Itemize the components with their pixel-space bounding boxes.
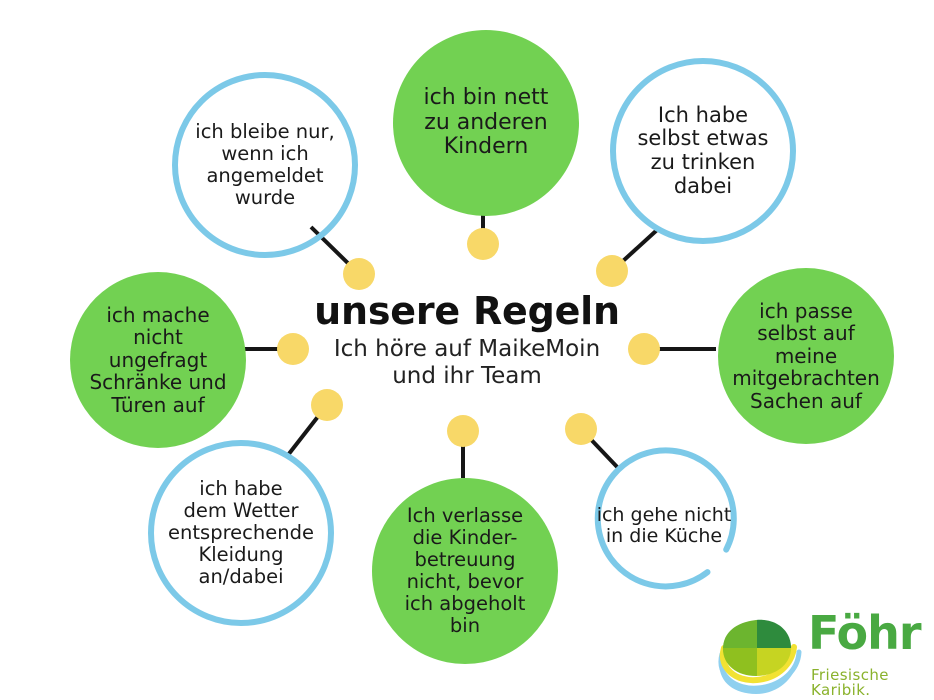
rule-text-nett: ich bin nett zu anderen Kindern [393,86,579,161]
connector-kinder-dot [447,415,479,447]
rule-bubble-anmeldung[interactable]: ich bleibe nur, wenn ich angemeldet wurd… [172,72,358,258]
foehr-island-icon [712,614,804,694]
rule-bubble-schraenke[interactable]: ich mache nicht ungefragt Schränke und T… [70,272,246,448]
rule-bubble-wetter[interactable]: ich habe dem Wetter entsprechende Kleidu… [148,440,334,626]
rule-text-kinder: Ich verlasse die Kinder- betreuung nicht… [372,505,558,637]
connector-sachen-dot [628,333,660,365]
logo-wordmark: Föhr [808,610,921,656]
connector-dots [277,228,660,447]
rule-text-sachen: ich passe selbst auf meine mitgebrachten… [718,300,894,413]
logo-tagline: Friesische Karibik. [811,668,928,698]
rule-bubble-sachen[interactable]: ich passe selbst auf meine mitgebrachten… [718,268,894,444]
rule-bubble-kueche[interactable]: ich gehe nicht in die Küche [584,446,744,606]
connector-trinken-dot [596,255,628,287]
rule-bubble-nett[interactable]: ich bin nett zu anderen Kindern [393,30,579,216]
connector-schraenke-dot [277,333,309,365]
mindmap-canvas: ich bleibe nur, wenn ich angemeldet wurd… [0,0,934,700]
connector-kueche-dot [565,413,597,445]
connector-nett-dot [467,228,499,260]
rule-text-wetter: ich habe dem Wetter entsprechende Kleidu… [154,478,328,588]
rule-bubble-trinken[interactable]: Ich habe selbst etwas zu trinken dabei [610,58,796,244]
rule-text-anmeldung: ich bleibe nur, wenn ich angemeldet wurd… [178,121,352,209]
rule-text-trinken: Ich habe selbst etwas zu trinken dabei [616,104,790,199]
rule-text-kueche: ich gehe nicht in die Küche [584,505,744,548]
foehr-logo[interactable]: Föhr Friesische Karibik. [712,612,928,696]
rule-text-schraenke: ich mache nicht ungefragt Schränke und T… [70,304,246,417]
connector-wetter-dot [311,389,343,421]
rule-bubble-kinder[interactable]: Ich verlasse die Kinder- betreuung nicht… [372,478,558,664]
connector-anmeldung-dot [343,258,375,290]
